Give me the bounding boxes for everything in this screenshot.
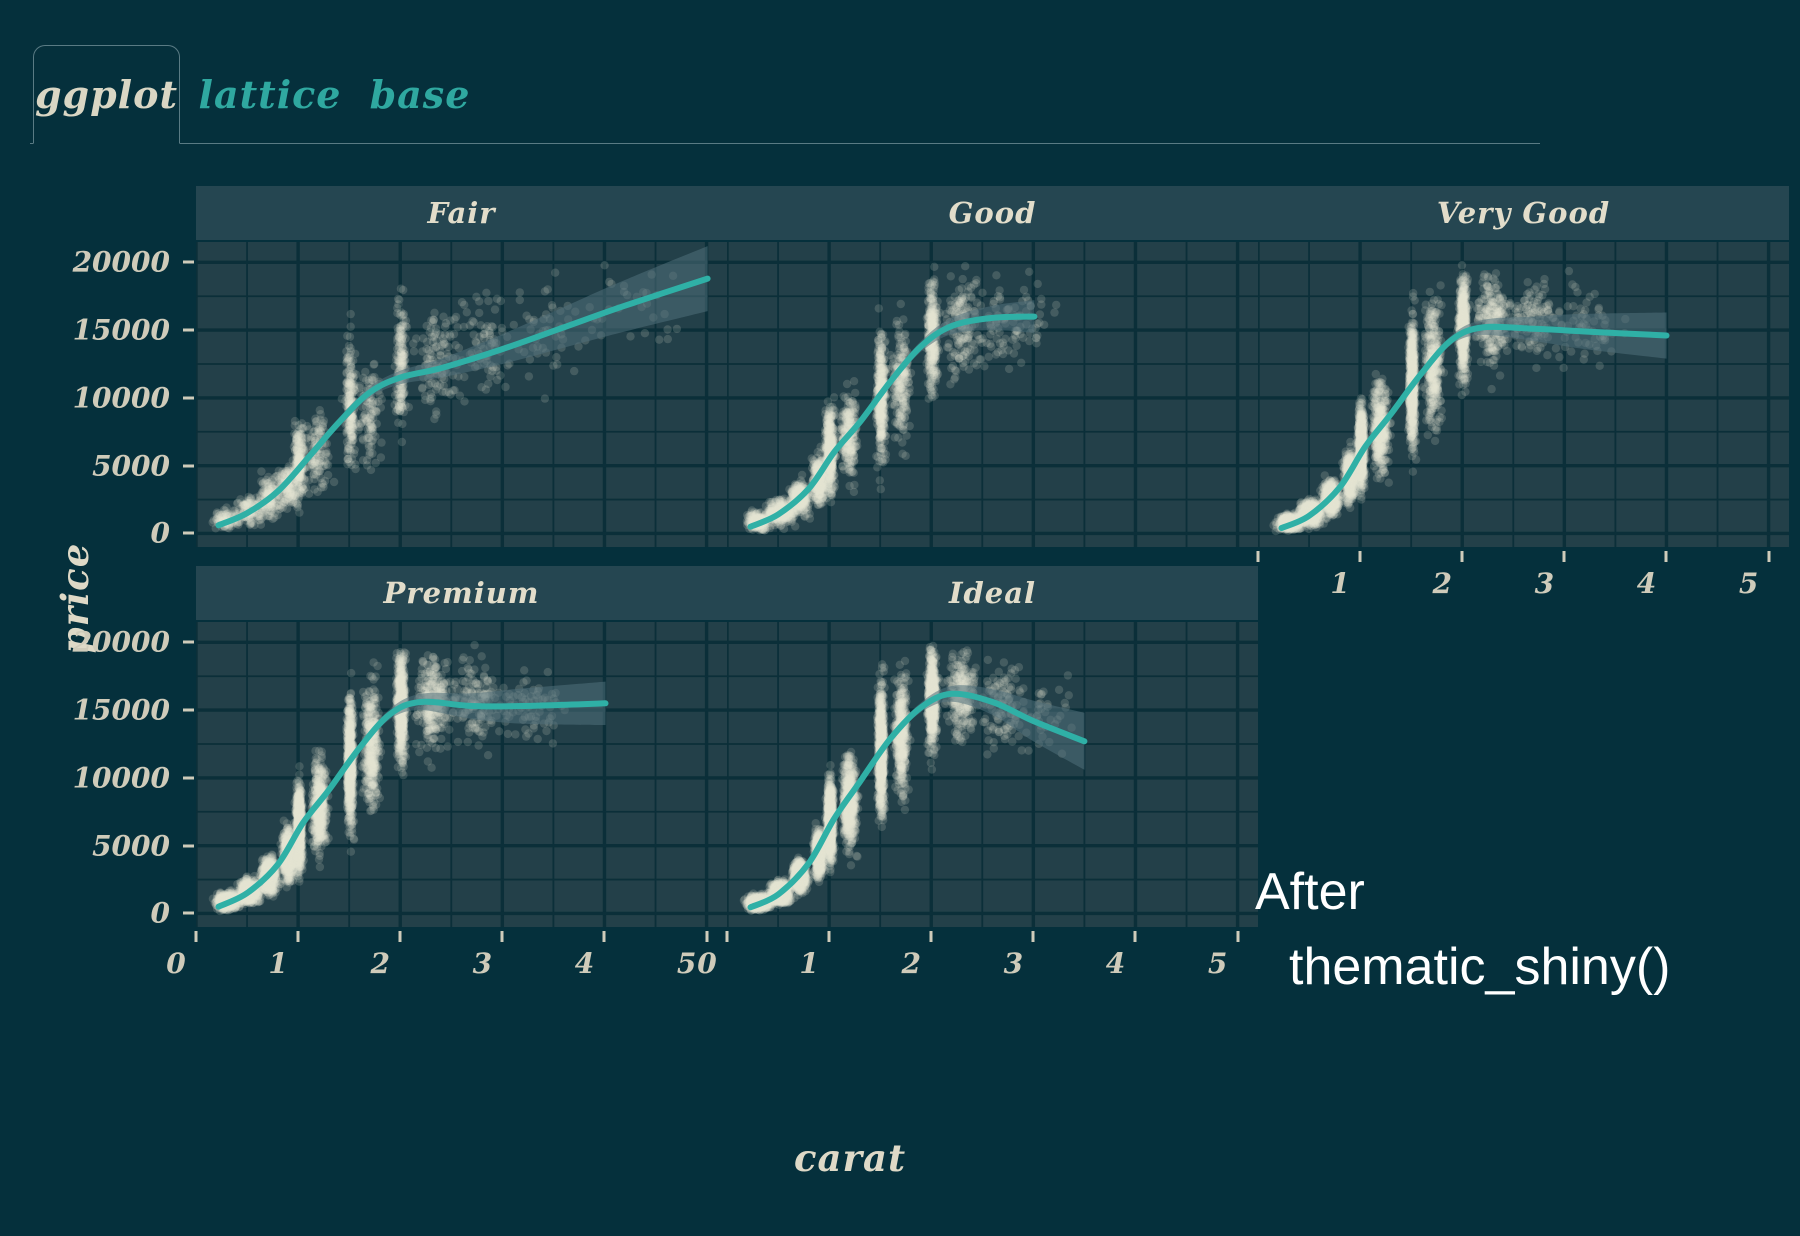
x-axis-tick-mark bbox=[726, 931, 729, 942]
facet-strip: Ideal bbox=[727, 566, 1258, 620]
x-axis-tick-mark bbox=[1032, 931, 1035, 942]
caption-line-2: thematic_shiny() bbox=[1255, 930, 1775, 1005]
y-axis-tick-mark bbox=[183, 709, 194, 712]
y-axis-tick-label: 5000 bbox=[0, 829, 170, 862]
x-axis-tick-mark bbox=[501, 931, 504, 942]
x-axis-tick-label: 2 bbox=[360, 947, 400, 980]
x-axis-tick-mark bbox=[297, 931, 300, 942]
x-axis-tick-label: 5 bbox=[1729, 567, 1769, 600]
facet-strip: Very Good bbox=[1258, 186, 1789, 240]
facet-strip: Fair bbox=[196, 186, 727, 240]
panel-canvas bbox=[196, 622, 727, 927]
tab-base[interactable]: base bbox=[360, 45, 480, 144]
y-axis-tick-label: 15000 bbox=[0, 314, 170, 347]
y-axis-tick-mark bbox=[183, 464, 194, 467]
y-axis-tick-mark bbox=[183, 844, 194, 847]
x-axis-tick-mark bbox=[1257, 551, 1260, 562]
x-axis-tick-mark bbox=[1665, 551, 1668, 562]
x-axis-tick-mark bbox=[705, 931, 708, 942]
y-axis-tick-mark bbox=[183, 329, 194, 332]
y-axis-tick-label: 0 bbox=[0, 517, 170, 550]
y-axis-tick-mark bbox=[183, 532, 194, 535]
facet-strip-label: Very Good bbox=[1437, 196, 1610, 230]
facet-strip-label: Ideal bbox=[949, 576, 1036, 610]
x-axis-tick-mark bbox=[1461, 551, 1464, 562]
facet-panel-fair: Fair bbox=[196, 186, 727, 547]
facet-strip-label: Premium bbox=[383, 576, 539, 610]
y-axis-tick-label: 5000 bbox=[0, 449, 170, 482]
y-axis-tick-label: 15000 bbox=[0, 694, 170, 727]
x-axis-tick-label: 4 bbox=[1095, 947, 1135, 980]
panel-canvas bbox=[727, 242, 1258, 547]
tab-lattice[interactable]: lattice bbox=[195, 45, 345, 144]
facet-plot-area bbox=[196, 622, 727, 927]
y-axis-tick-label: 10000 bbox=[0, 381, 170, 414]
x-axis-tick-mark bbox=[930, 931, 933, 942]
y-axis-tick-mark bbox=[183, 912, 194, 915]
y-axis-tick-mark bbox=[183, 641, 194, 644]
facet-panel-good: Good bbox=[727, 186, 1258, 547]
facet-plot-area bbox=[196, 242, 727, 547]
ggplot-facet-chart: price carat 0500010000150002000005000100… bbox=[0, 146, 1800, 1236]
facet-strip-label: Fair bbox=[427, 196, 495, 230]
y-axis-tick-label: 10000 bbox=[0, 761, 170, 794]
x-axis-tick-label: 0 bbox=[156, 947, 196, 980]
x-axis-tick-label: 0 bbox=[687, 947, 727, 980]
x-axis-tick-mark bbox=[1359, 551, 1362, 562]
y-axis-tick-mark bbox=[183, 396, 194, 399]
x-axis-tick-label: 2 bbox=[891, 947, 931, 980]
x-axis-tick-mark bbox=[1134, 931, 1137, 942]
x-axis-tick-mark bbox=[195, 931, 198, 942]
panel-canvas bbox=[1258, 242, 1789, 547]
y-axis-tick-mark bbox=[183, 776, 194, 779]
x-axis-tick-label: 4 bbox=[564, 947, 604, 980]
y-axis-tick-label: 20000 bbox=[0, 626, 170, 659]
facet-strip: Premium bbox=[196, 566, 727, 620]
x-axis-tick-mark bbox=[828, 931, 831, 942]
facet-strip-label: Good bbox=[949, 196, 1037, 230]
caption-after-thematic-shiny: After thematic_shiny() bbox=[1255, 855, 1775, 1006]
x-axis-tick-mark bbox=[399, 931, 402, 942]
facet-plot-area bbox=[727, 242, 1258, 547]
caption-line-1: After bbox=[1255, 855, 1775, 930]
facet-plot-area bbox=[1258, 242, 1789, 547]
x-axis-tick-label: 4 bbox=[1626, 567, 1666, 600]
x-axis-tick-label: 3 bbox=[993, 947, 1033, 980]
y-axis-tick-mark bbox=[183, 261, 194, 264]
facet-panel-premium: Premium bbox=[196, 566, 727, 927]
x-axis-title: carat bbox=[760, 1136, 940, 1180]
x-axis-tick-label: 1 bbox=[1320, 567, 1360, 600]
panel-canvas bbox=[727, 622, 1258, 927]
facet-panel-ideal: Ideal bbox=[727, 566, 1258, 927]
x-axis-tick-label: 3 bbox=[1524, 567, 1564, 600]
facet-strip: Good bbox=[727, 186, 1258, 240]
x-axis-tick-label: 5 bbox=[1198, 947, 1238, 980]
facet-panel-very-good: Very Good bbox=[1258, 186, 1789, 547]
x-axis-tick-mark bbox=[603, 931, 606, 942]
x-axis-tick-label: 1 bbox=[789, 947, 829, 980]
y-axis-tick-label: 0 bbox=[0, 897, 170, 930]
tab-ggplot[interactable]: ggplot bbox=[33, 45, 180, 144]
x-axis-tick-label: 2 bbox=[1422, 567, 1462, 600]
x-axis-tick-mark bbox=[1236, 931, 1239, 942]
x-axis-tick-label: 1 bbox=[258, 947, 298, 980]
facet-plot-area bbox=[727, 622, 1258, 927]
x-axis-tick-label: 3 bbox=[462, 947, 502, 980]
panel-canvas bbox=[196, 242, 727, 547]
tab-bar: ggplot lattice base bbox=[0, 0, 1800, 146]
y-axis-tick-label: 20000 bbox=[0, 246, 170, 279]
x-axis-tick-mark bbox=[1563, 551, 1566, 562]
x-axis-tick-mark bbox=[1767, 551, 1770, 562]
